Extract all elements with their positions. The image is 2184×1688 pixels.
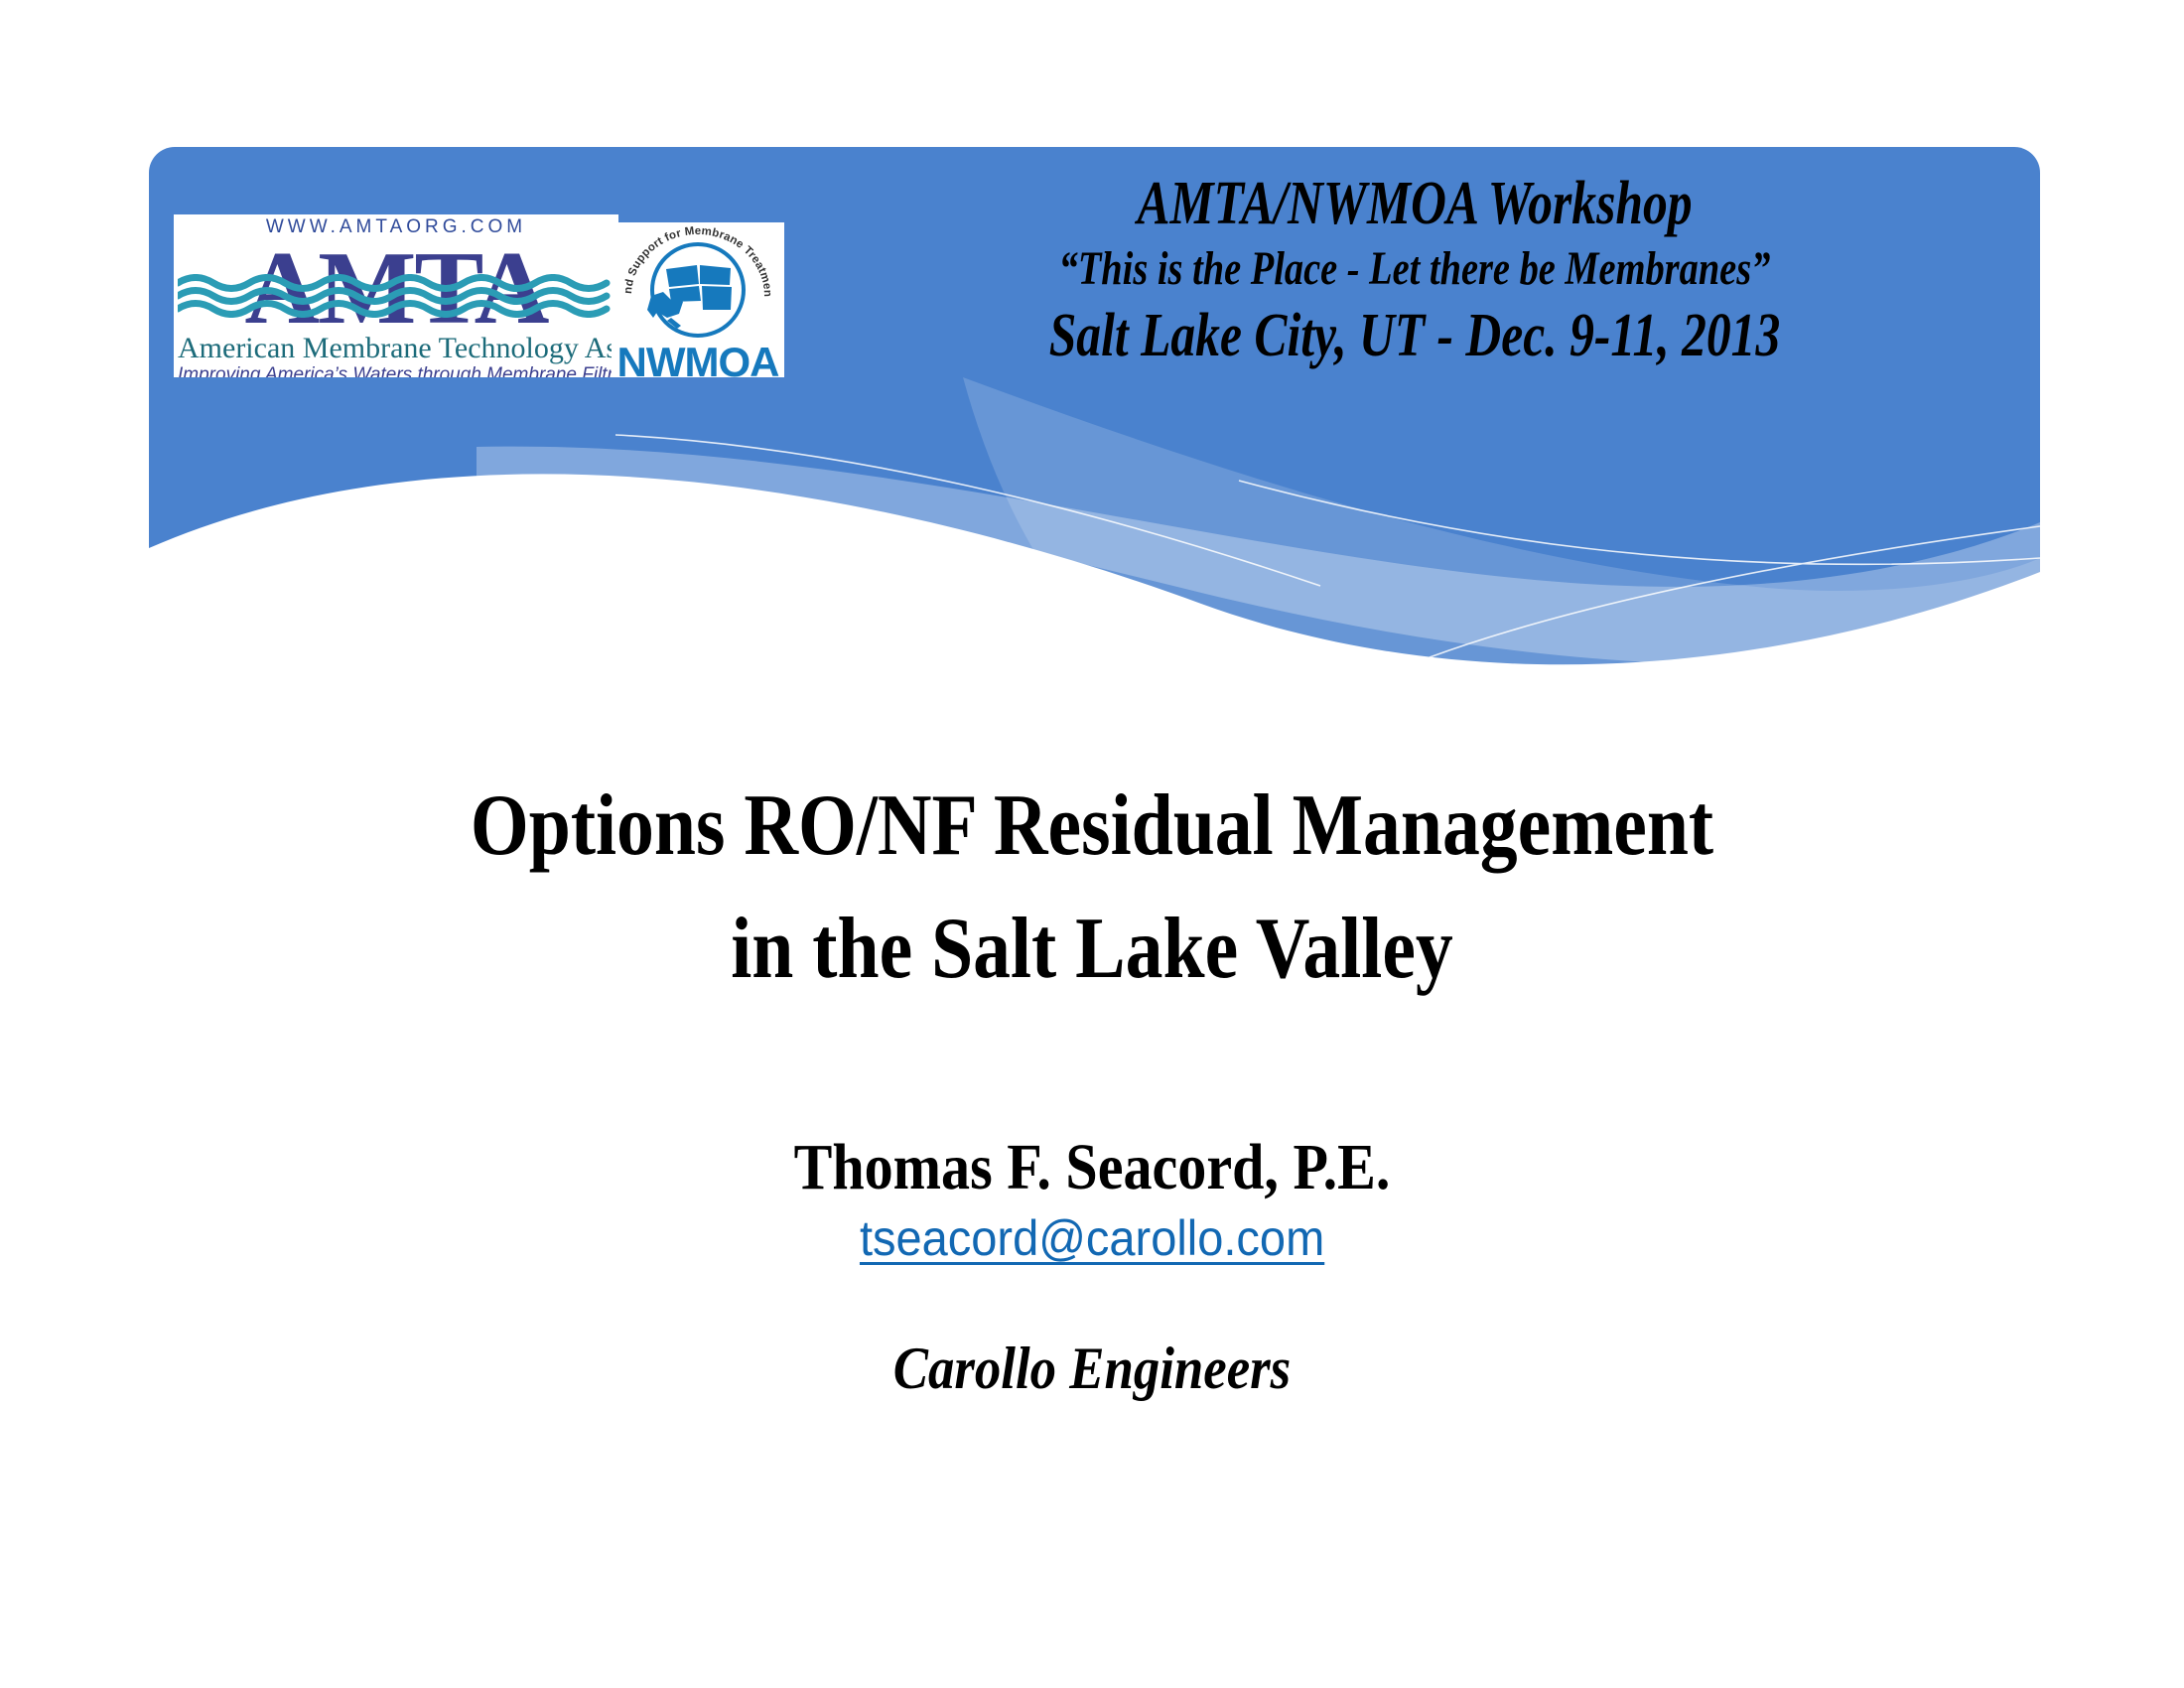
amta-logo: WWW.AMTAORG.COM AMTA American Membrane T…	[174, 214, 618, 398]
presenter-name: Thomas F. Seacord, P.E.	[131, 1128, 2053, 1207]
page-title-line-2: in the Salt Lake Valley	[153, 888, 2031, 1011]
amta-wave-icon	[178, 274, 614, 318]
svg-text:Education and Support for Memb: Education and Support for Membrane Treat…	[612, 222, 773, 297]
nwmoa-subtitle: Northwest Membrane Operator Association	[612, 379, 784, 391]
nwmoa-logo: Education and Support for Membrane Treat…	[612, 222, 784, 391]
slide-content: Options RO/NF Residual Management in the…	[0, 765, 2184, 1404]
banner-workshop-title: AMTA/NWMOA Workshop	[926, 167, 1903, 240]
page-title-line-1: Options RO/NF Residual Management	[153, 765, 2031, 888]
amta-tagline: Improving America’s Waters through Membr…	[178, 364, 614, 386]
banner-workshop-theme: “This is the Place - Let there be Membra…	[926, 240, 1903, 298]
banner-location-date: Salt Lake City, UT - Dec. 9-11, 2013	[926, 298, 1903, 373]
presenter-email-link[interactable]: tseacord@carollo.com	[860, 1207, 1324, 1269]
nwmoa-wordmark-text: NWMOA	[612, 346, 784, 379]
amta-wordmark-group: AMTA	[178, 236, 614, 332]
company-name: Carollo Engineers	[131, 1333, 2053, 1404]
conference-banner: WWW.AMTAORG.COM AMTA American Membrane T…	[149, 147, 2040, 534]
banner-heading-group: AMTA/NWMOA Workshop “This is the Place -…	[804, 167, 2025, 373]
nwmoa-seal-icon: Education and Support for Membrane Treat…	[612, 222, 784, 346]
presenter-block: Thomas F. Seacord, P.E. tseacord@carollo…	[0, 1128, 2184, 1269]
page-title: Options RO/NF Residual Management in the…	[153, 765, 2031, 1011]
